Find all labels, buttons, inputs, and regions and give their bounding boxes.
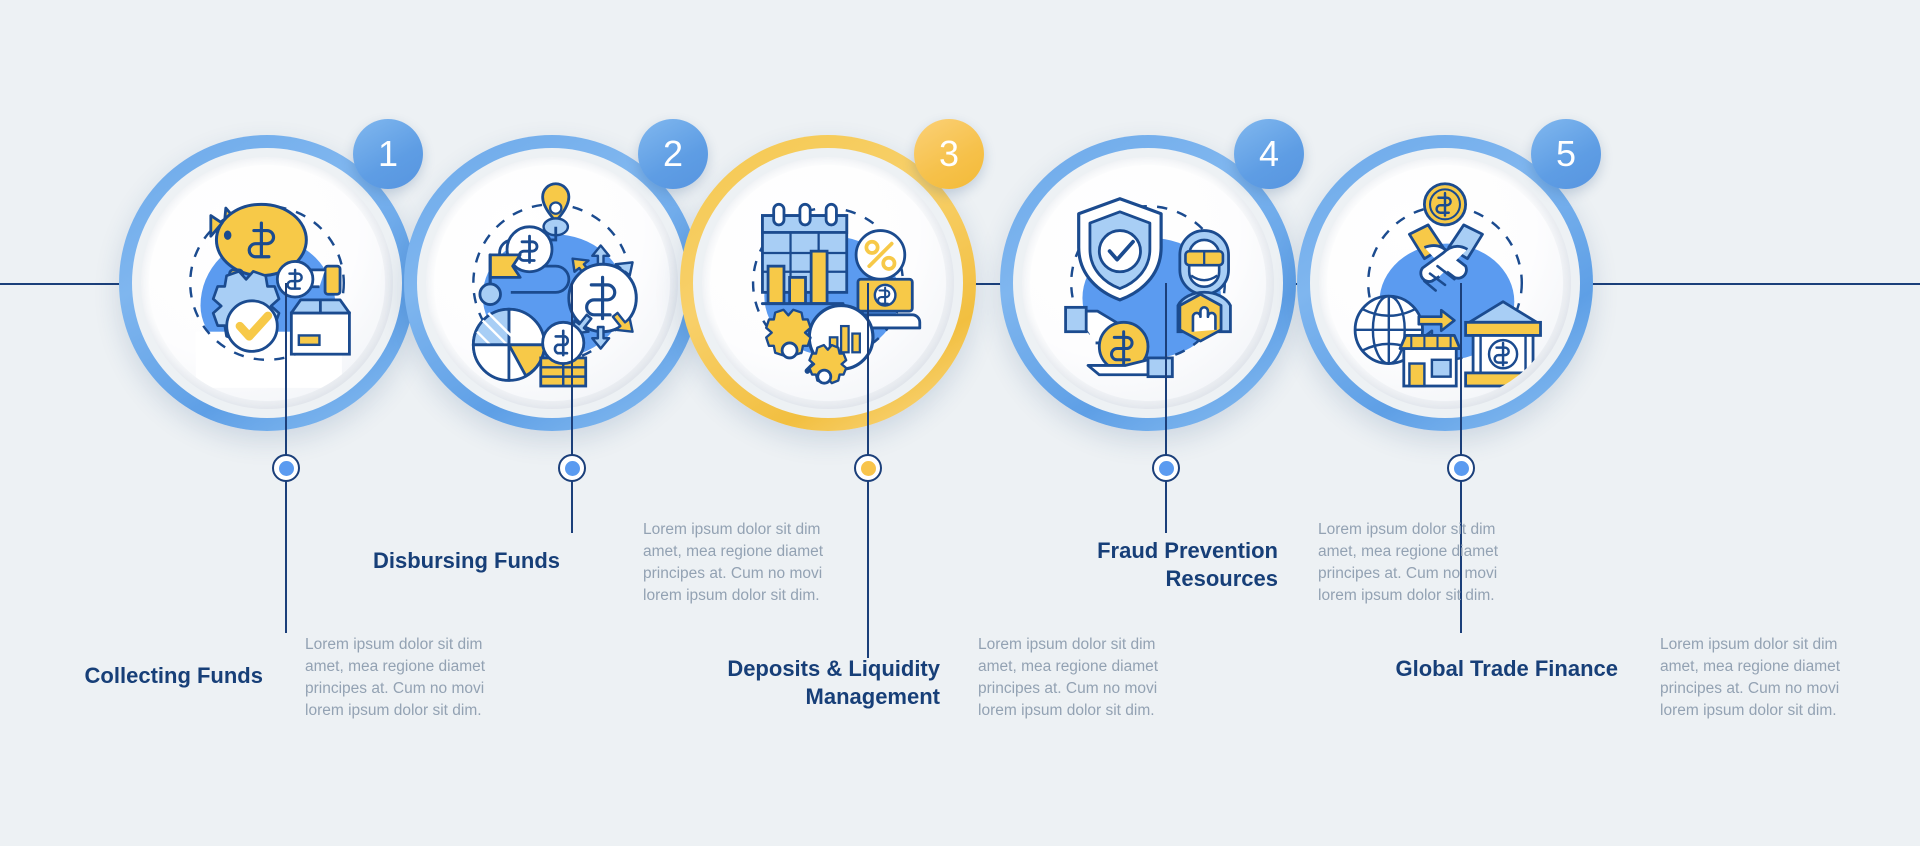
money-distribution-pie-chart-icon — [434, 165, 670, 401]
step-badge-3: 3 — [914, 119, 984, 189]
step-disc-4 — [1022, 157, 1274, 409]
step-title-3: Deposits & Liquidity Management — [620, 655, 940, 710]
step-disc-2 — [426, 157, 678, 409]
infographic-timeline: 1 — [0, 0, 1920, 846]
step-node-3[interactable]: 3 — [680, 135, 976, 431]
step-dot-1 — [272, 454, 300, 482]
step-description-4: Lorem ipsum dolor sit dim amet, mea regi… — [1318, 519, 1514, 607]
step-description-5: Lorem ipsum dolor sit dim amet, mea regi… — [1660, 634, 1856, 722]
step-dot-5 — [1447, 454, 1475, 482]
step-dot-3 — [854, 454, 882, 482]
step-dot-2 — [558, 454, 586, 482]
piggy-bank-gear-check-parcel-icon — [149, 165, 385, 401]
step-node-2[interactable]: 2 — [404, 135, 700, 431]
step-badge-5: 5 — [1531, 119, 1601, 189]
step-description-2: Lorem ipsum dolor sit dim amet, mea regi… — [643, 519, 839, 607]
step-description-3: Lorem ipsum dolor sit dim amet, mea regi… — [978, 634, 1174, 722]
step-disc-5 — [1319, 157, 1571, 409]
step-dot-4 — [1152, 454, 1180, 482]
step-node-1[interactable]: 1 — [119, 135, 415, 431]
shield-check-stop-hand-icon — [1030, 165, 1266, 401]
handshake-globe-bank-icon — [1327, 165, 1563, 401]
step-title-4: Fraud Prevention Resources — [1000, 537, 1278, 592]
step-node-4[interactable]: 4 — [1000, 135, 1296, 431]
step-connector-2 — [571, 283, 573, 533]
step-badge-4: 4 — [1234, 119, 1304, 189]
calendar-bar-chart-percent-icon — [710, 165, 946, 401]
step-title-2: Disbursing Funds — [310, 547, 560, 575]
step-node-5[interactable]: 5 — [1297, 135, 1593, 431]
step-title-1: Collecting Funds — [0, 662, 263, 690]
step-title-5: Global Trade Finance — [1300, 655, 1618, 683]
step-description-1: Lorem ipsum dolor sit dim amet, mea regi… — [305, 634, 501, 722]
step-badge-1: 1 — [353, 119, 423, 189]
step-disc-1 — [141, 157, 393, 409]
step-connector-4 — [1165, 283, 1167, 533]
step-badge-2: 2 — [638, 119, 708, 189]
step-disc-3 — [702, 157, 954, 409]
